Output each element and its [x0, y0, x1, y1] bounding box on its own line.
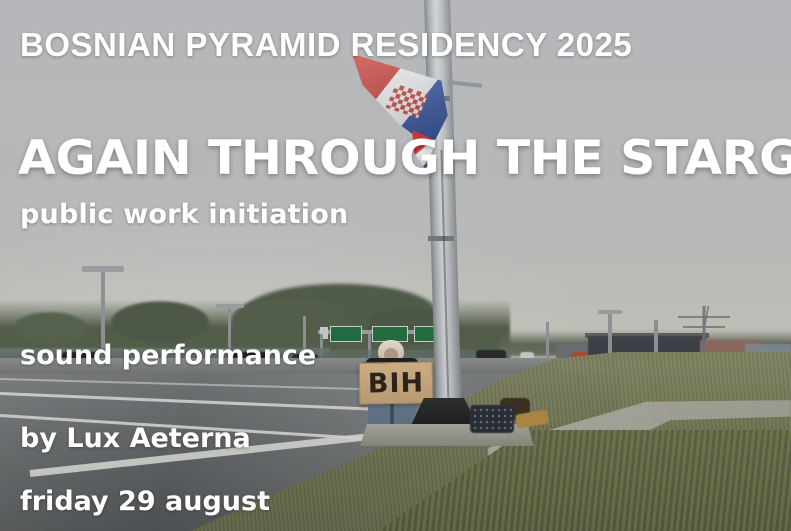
event-poster: BIH BOSNIAN PYRAMID RESIDENCY 2025 AGAIN…: [0, 0, 791, 531]
text-overlay: BOSNIAN PYRAMID RESIDENCY 2025 AGAIN THR…: [0, 0, 791, 531]
event-subheading: public work initiation: [20, 199, 348, 230]
event-schedule: friday 29 august 6 pm Park Ravne 2 - VIS…: [20, 429, 451, 531]
event-headline: AGAIN THROUGH THE STARGATE: [18, 131, 791, 186]
residency-kicker: BOSNIAN PYRAMID RESIDENCY 2025: [20, 26, 632, 64]
event-date: friday 29 august: [20, 487, 451, 516]
performance-credit-line-1: sound performance: [20, 342, 316, 370]
